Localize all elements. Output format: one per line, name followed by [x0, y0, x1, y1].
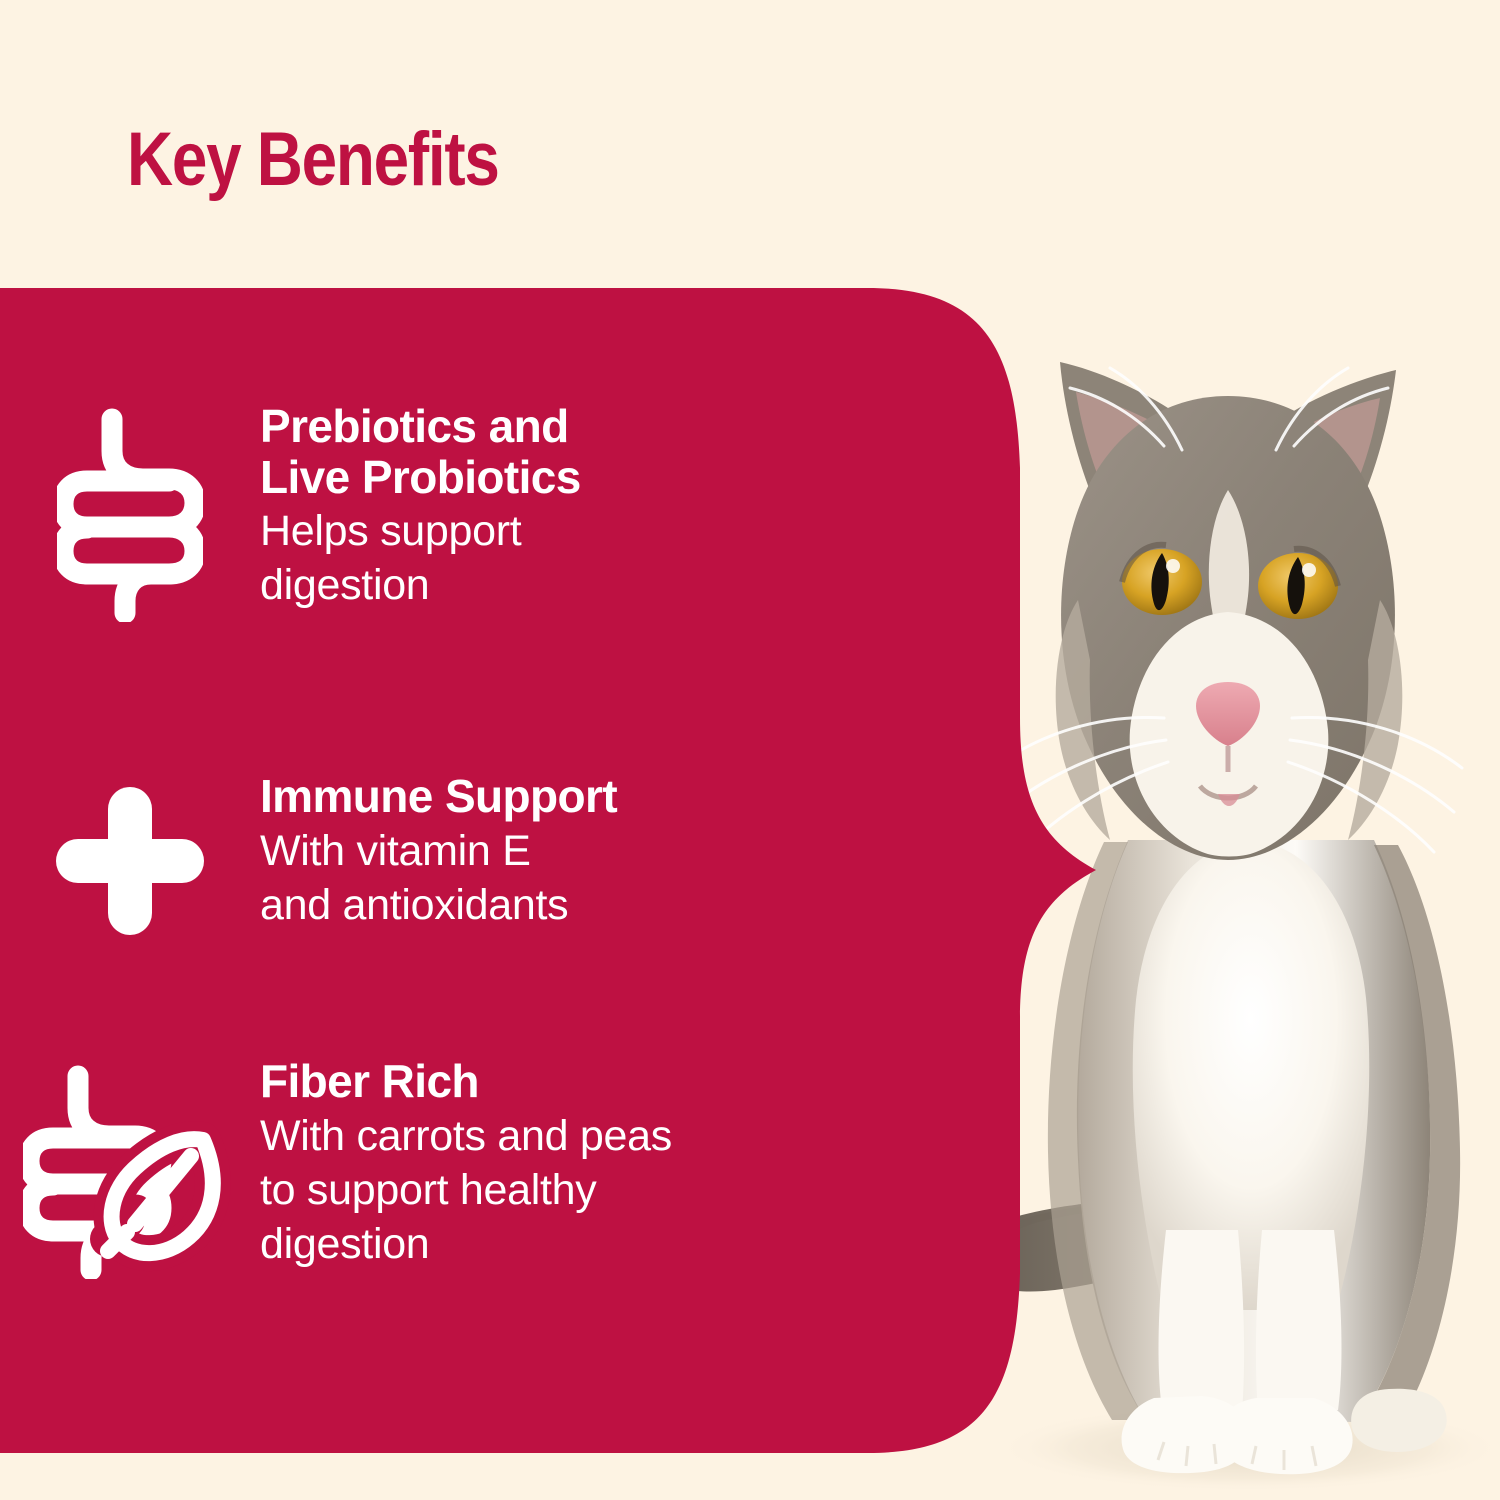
benefit-title: Prebiotics and Live Probiotics — [260, 401, 880, 502]
benefit-description: With carrots and peas to support healthy… — [260, 1109, 880, 1272]
benefit-description: With vitamin E and antioxidants — [260, 824, 880, 932]
page-title: Key Benefits — [127, 122, 499, 198]
plus-icon — [54, 785, 206, 937]
benefit-text-fiber-rich: Fiber Rich With carrots and peas to supp… — [260, 1056, 880, 1271]
benefit-title: Fiber Rich — [260, 1056, 880, 1107]
intestine-icon-wrap — [0, 401, 260, 622]
benefit-item-fiber-rich: Fiber Rich With carrots and peas to supp… — [0, 1056, 880, 1279]
plus-icon-wrap — [0, 771, 260, 937]
benefit-description: Helps support digestion — [260, 504, 880, 612]
cat-hind-paw — [1351, 1389, 1447, 1452]
benefit-title: Immune Support — [260, 771, 880, 822]
key-benefits-graphic: Prebiotics and Live Probiotics Helps sup… — [0, 0, 1500, 1500]
intestine-leaf-icon — [23, 1064, 238, 1279]
intestine-icon — [57, 407, 203, 622]
benefit-text-immune-support: Immune Support With vitamin E and antiox… — [260, 771, 880, 932]
benefit-text-prebiotics: Prebiotics and Live Probiotics Helps sup… — [260, 401, 880, 613]
intestine-leaf-icon-wrap — [0, 1056, 260, 1279]
benefit-item-prebiotics: Prebiotics and Live Probiotics Helps sup… — [0, 401, 880, 622]
benefit-item-immune-support: Immune Support With vitamin E and antiox… — [0, 771, 880, 937]
cat-front-leg-left — [1159, 1230, 1245, 1412]
cat-front-leg-right — [1256, 1230, 1342, 1412]
